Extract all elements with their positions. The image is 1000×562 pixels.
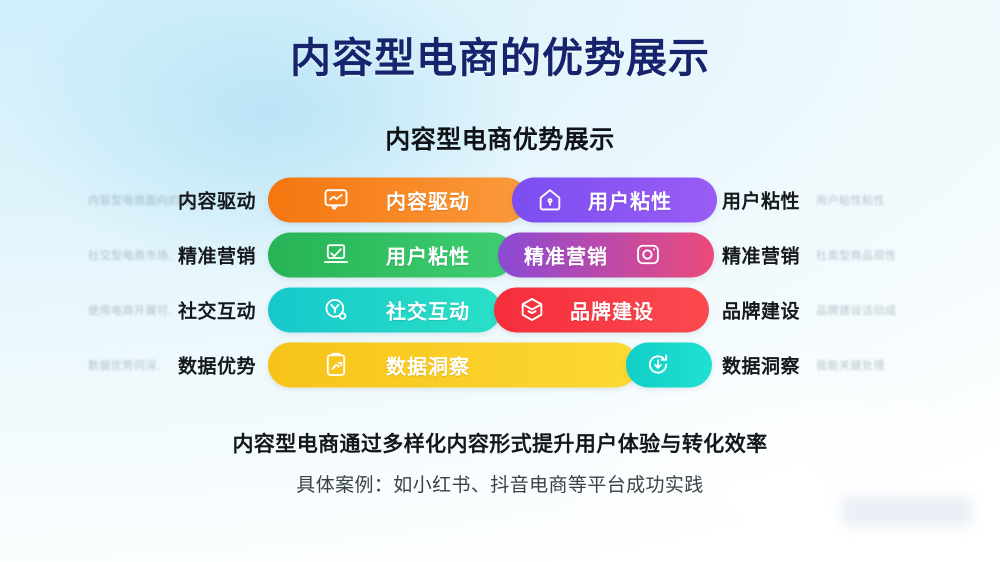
ghost-text-left: 社交型电商市场,: [88, 247, 172, 263]
bar-left[interactable]: 内容驱动: [268, 177, 528, 222]
category-label-right: 精准营销: [722, 241, 800, 268]
slide-canvas: 内容型电商的优势展示 内容型电商优势展示 内容型电商面向的另, 内容驱动 内容驱…: [0, 0, 1000, 562]
bar-right[interactable]: 精准营销: [498, 232, 714, 277]
bar-left[interactable]: 数据洞察: [268, 342, 638, 387]
bar-left[interactable]: 用户粘性: [268, 232, 514, 277]
ghost-text-left: 数据优势同深,: [88, 357, 161, 373]
category-label-left: 内容驱动: [178, 186, 256, 213]
category-label-right: 用户粘性: [722, 186, 800, 213]
cube-box-icon: [516, 294, 548, 326]
ghost-text-right: 我能关键处理: [816, 357, 885, 373]
chat-chart-icon: [320, 184, 352, 216]
bar-label-left: 数据洞察: [386, 350, 470, 379]
category-label-right: 数据洞察: [722, 351, 800, 378]
clock-share-icon: [320, 294, 352, 326]
chart-row: 社交型电商市场, 精准营销 用户粘性 精准营销: [0, 227, 1000, 282]
camera-circle-icon: [632, 239, 664, 271]
category-label-left: 社交互动: [178, 296, 256, 323]
chart-row: 内容型电商面向的另, 内容驱动 内容驱动: [0, 172, 1000, 227]
bar-right[interactable]: 用户粘性: [512, 177, 717, 222]
bar-label-right: 品牌建设: [570, 295, 654, 324]
footer-line-2: 具体案例：如小红书、抖音电商等平台成功实践: [0, 470, 1000, 497]
bar-label-left: 用户粘性: [386, 240, 470, 269]
bar-label-left: 社交互动: [386, 295, 470, 324]
chart-row: 使用电商开展可, 社交互动 社交互动: [0, 282, 1000, 337]
footer-line-1: 内容型电商通过多样化内容形式提升用户体验与转化效率: [0, 428, 1000, 458]
chart-row: 数据优势同深, 数据优势 数据洞察: [0, 337, 1000, 392]
bar-right[interactable]: 品牌建设: [494, 287, 709, 332]
ghost-text-right: 品牌建设活动成: [816, 302, 897, 318]
ghost-text-left: 使用电商开展可,: [88, 302, 172, 318]
bar-label-right: 用户粘性: [588, 185, 672, 214]
bar-left[interactable]: 社交互动: [268, 287, 501, 332]
watermark-blur: [842, 496, 972, 526]
category-label-left: 数据优势: [178, 351, 256, 378]
page-title: 内容型电商的优势展示: [0, 36, 1000, 81]
bar-label-left: 内容驱动: [386, 185, 470, 214]
category-label-right: 品牌建设: [722, 296, 800, 323]
chart-title: 内容型电商优势展示: [0, 120, 1000, 156]
home-lock-icon: [534, 184, 566, 216]
clipboard-chart-icon: [320, 349, 352, 381]
category-label-left: 精准营销: [178, 241, 256, 268]
ghost-text-right: 用户粘性粘性: [816, 192, 885, 208]
bar-chart: 内容型电商面向的另, 内容驱动 内容驱动: [0, 172, 1000, 392]
ghost-text-right: 社类型商品观性: [816, 247, 897, 263]
bar-label-right: 精准营销: [524, 240, 608, 269]
refresh-down-icon: [642, 349, 674, 381]
bar-right[interactable]: [626, 342, 712, 387]
laptop-chart-icon: [320, 239, 352, 271]
